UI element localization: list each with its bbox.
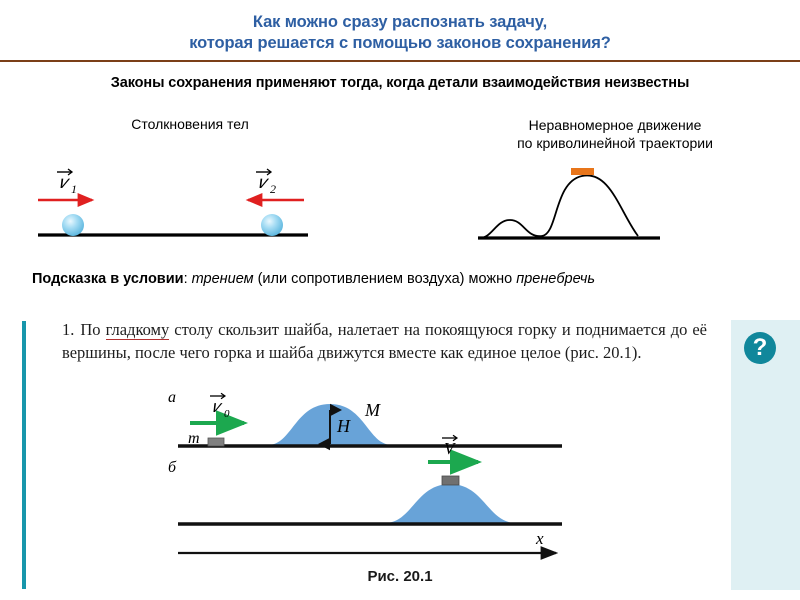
track-curve bbox=[480, 175, 638, 238]
svg-text:𝑣: 𝑣 bbox=[258, 172, 270, 192]
label-H: H bbox=[336, 416, 351, 436]
example-right-caption-line-1: Неравномерное движение bbox=[440, 116, 790, 134]
block-m bbox=[208, 438, 224, 446]
example-right-caption: Неравномерное движение по криволинейной … bbox=[440, 116, 790, 152]
svg-text:2: 2 bbox=[270, 182, 276, 196]
collision-ball-left bbox=[62, 214, 84, 236]
hint-italic-1: трением bbox=[192, 271, 254, 287]
label-m: m bbox=[188, 430, 200, 447]
svg-text:𝑣: 𝑣 bbox=[59, 172, 71, 192]
problem-number: 1. bbox=[62, 320, 74, 339]
physics-diagram: а m 𝑣 0 H M б bbox=[150, 390, 580, 565]
hill-b bbox=[385, 484, 516, 524]
collision-ball-right bbox=[261, 214, 283, 236]
block-on-hill bbox=[442, 476, 459, 485]
problem-statement: 1.По гладкому столу скользит шайба, нале… bbox=[62, 318, 707, 364]
title-line-1: Как можно сразу распознать задачу, bbox=[0, 12, 800, 33]
problem-underlined-word: гладкому bbox=[106, 320, 170, 340]
svg-text:1: 1 bbox=[71, 182, 77, 196]
velocity-v0-label: 𝑣 0 bbox=[210, 393, 230, 420]
svg-text:V: V bbox=[444, 439, 457, 458]
subtitle-text: Законы сохранения применяют тогда, когда… bbox=[0, 75, 800, 91]
hint-bold: Подсказка в условии bbox=[32, 271, 184, 287]
svg-text:0: 0 bbox=[224, 408, 230, 420]
track-block bbox=[571, 168, 594, 175]
velocity-1-label: 𝑣 1 bbox=[57, 169, 77, 196]
hint-line: Подсказка в условии: трением (или сопрот… bbox=[32, 271, 782, 287]
panel-a-label: а bbox=[168, 390, 176, 406]
label-x: x bbox=[535, 529, 544, 548]
label-M: M bbox=[364, 400, 381, 420]
accent-bar bbox=[22, 321, 26, 589]
curved-track-figure bbox=[470, 150, 730, 250]
problem-text-before: По bbox=[80, 320, 105, 339]
collision-figure: 𝑣 1 𝑣 2 bbox=[30, 155, 330, 250]
figure-caption: Рис. 20.1 bbox=[230, 568, 570, 585]
help-question-icon[interactable]: ? bbox=[744, 332, 776, 364]
help-panel: ? bbox=[731, 320, 800, 590]
svg-text:𝑣: 𝑣 bbox=[212, 397, 223, 416]
title-divider bbox=[0, 60, 800, 62]
hint-middle: (или сопротивлением воздуха) можно bbox=[254, 271, 517, 287]
title-line-2: которая решается с помощью законов сохра… bbox=[0, 33, 800, 54]
slide-root: Как можно сразу распознать задачу, котор… bbox=[0, 0, 800, 600]
velocity-2-label: 𝑣 2 bbox=[256, 169, 276, 196]
example-left-caption: Столкновения тел bbox=[40, 116, 340, 132]
panel-b-label: б bbox=[168, 459, 177, 476]
slide-title: Как можно сразу распознать задачу, котор… bbox=[0, 12, 800, 54]
hint-italic-2: пренебречь bbox=[516, 271, 595, 287]
hint-colon: : bbox=[184, 271, 192, 287]
